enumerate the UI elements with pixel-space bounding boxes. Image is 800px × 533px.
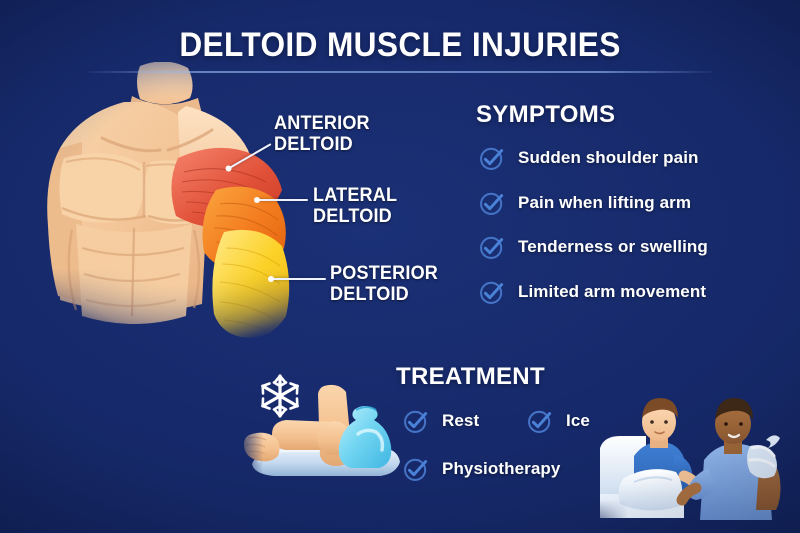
treatment-list-item: Rest bbox=[402, 407, 479, 435]
check-circle-icon bbox=[478, 189, 506, 217]
symptom-list-item: Limited arm movement bbox=[478, 278, 706, 306]
treatment-label: Rest bbox=[442, 411, 479, 431]
callout-label-lateral-deltoid: LATERAL DELTOID bbox=[313, 185, 397, 228]
page-title: DELTOID MUSCLE INJURIES bbox=[28, 26, 772, 65]
check-circle-icon bbox=[402, 455, 430, 483]
check-circle-icon bbox=[478, 278, 506, 306]
treatment-label: Ice bbox=[566, 411, 590, 431]
therapist-figure bbox=[682, 398, 781, 520]
callout-label-posterior-deltoid: POSTERIOR DELTOID bbox=[330, 263, 438, 306]
torso-anatomy-illustration bbox=[28, 62, 328, 342]
symptom-list-item: Pain when lifting arm bbox=[478, 189, 691, 217]
symptom-label: Sudden shoulder pain bbox=[518, 148, 699, 168]
title-divider bbox=[88, 71, 712, 73]
snowflake-icon bbox=[263, 376, 298, 416]
leader-line-lateral bbox=[258, 199, 308, 201]
physiotherapy-illustration bbox=[600, 382, 800, 533]
check-circle-icon bbox=[478, 144, 506, 172]
check-circle-icon bbox=[402, 407, 430, 435]
symptom-list-item: Tenderness or swelling bbox=[478, 233, 708, 261]
treatment-heading: TREATMENT bbox=[396, 363, 545, 391]
posterior-deltoid-region bbox=[212, 230, 289, 338]
treatment-list-item: Physiotherapy bbox=[402, 455, 560, 483]
leader-line-posterior bbox=[272, 278, 326, 280]
symptoms-heading: SYMPTOMS bbox=[476, 101, 615, 129]
symptom-label: Pain when lifting arm bbox=[518, 193, 691, 213]
symptom-label: Limited arm movement bbox=[518, 282, 706, 302]
symptom-list-item: Sudden shoulder pain bbox=[478, 144, 699, 172]
symptom-label: Tenderness or swelling bbox=[518, 237, 708, 257]
treatment-list-item: Ice bbox=[526, 407, 590, 435]
treatment-label: Physiotherapy bbox=[442, 459, 560, 479]
check-circle-icon bbox=[478, 233, 506, 261]
callout-label-anterior-deltoid: ANTERIOR DELTOID bbox=[274, 113, 370, 156]
arm-ice-pack-illustration bbox=[236, 372, 406, 497]
infographic-poster: DELTOID MUSCLE INJURIES bbox=[0, 0, 800, 533]
check-circle-icon bbox=[526, 407, 554, 435]
